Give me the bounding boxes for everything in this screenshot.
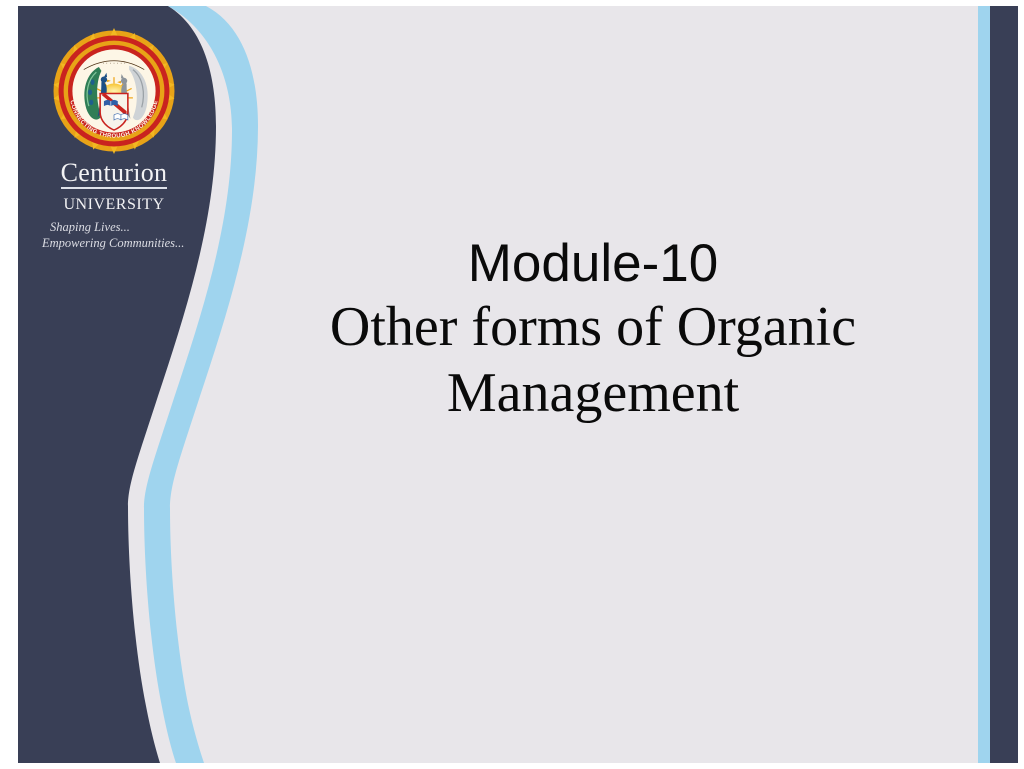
- shield-book-right: [114, 114, 128, 120]
- title-line-subject-2: Management: [228, 360, 958, 426]
- brand-subtitle: UNIVERSITY: [34, 190, 194, 214]
- right-navy-band: [990, 6, 1018, 763]
- slide-canvas: . . . . . . .: [0, 0, 1024, 769]
- university-seal-icon: . . . . . . .: [51, 28, 177, 154]
- svg-text:. . . . . . .: . . . . . . .: [102, 59, 126, 65]
- brand-name: Centurion: [61, 160, 168, 189]
- brand-name-wrap: Centurion: [34, 158, 194, 189]
- tagline-line-1: Shaping Lives...: [34, 220, 194, 236]
- right-blue-stripe: [978, 6, 990, 763]
- title-line-subject-1: Other forms of Organic: [228, 294, 958, 360]
- title-line-module: Module-10: [228, 234, 958, 294]
- tagline-line-2: Empowering Communities...: [34, 236, 194, 252]
- university-logo-block: . . . . . . .: [34, 28, 194, 251]
- slide-title-block: Module-10 Other forms of Organic Managem…: [228, 234, 958, 427]
- slide-content-area: . . . . . . .: [18, 6, 1018, 763]
